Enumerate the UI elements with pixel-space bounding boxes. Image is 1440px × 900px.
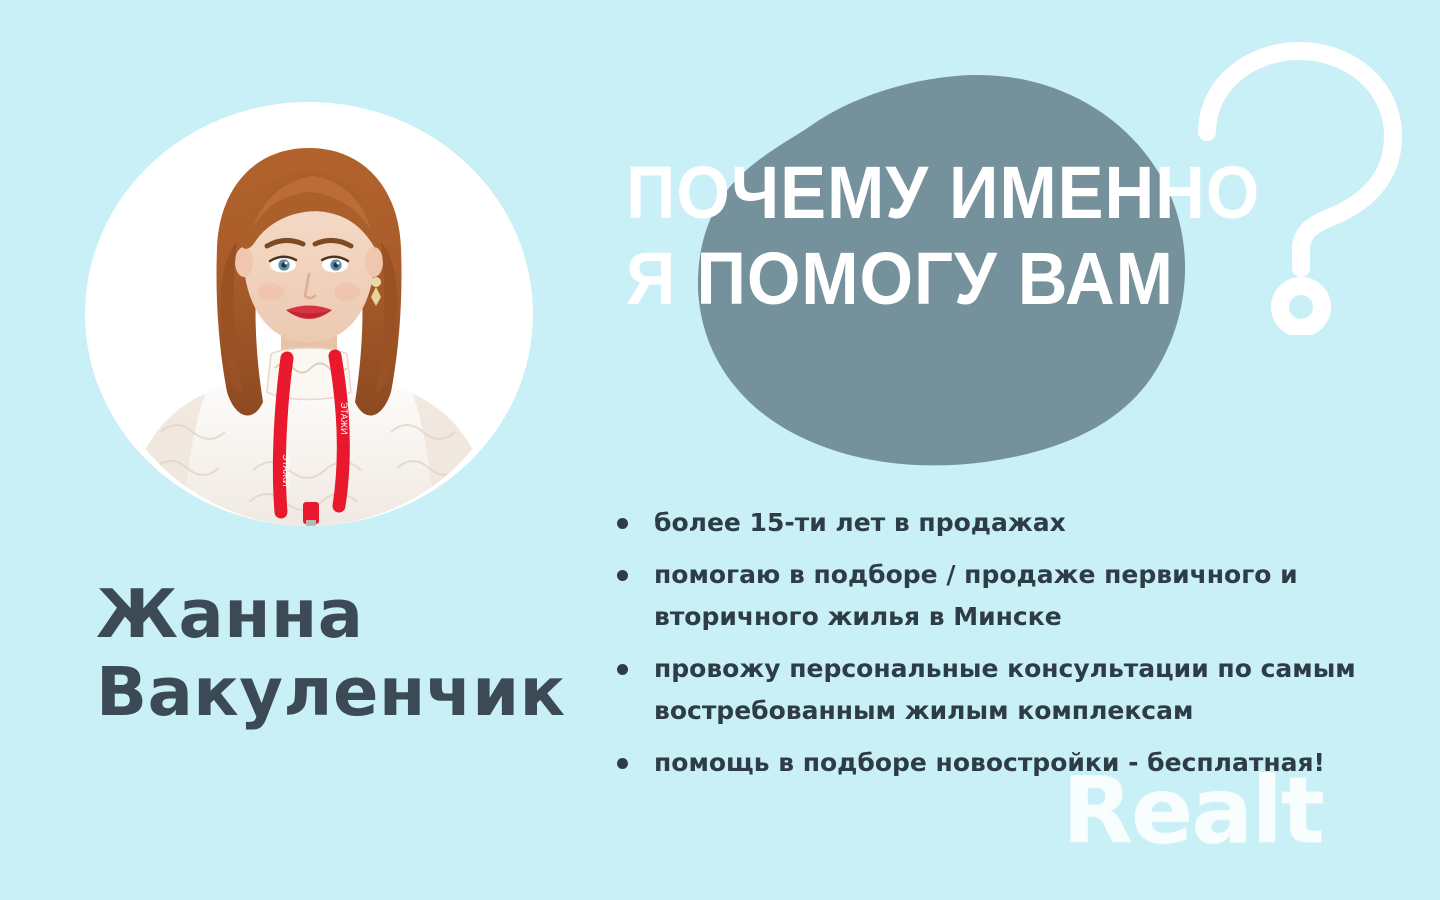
headline-line-1: ПОЧЕМУ ИМЕННО xyxy=(626,150,1277,236)
benefit-text: провожу персональные консультации по сам… xyxy=(654,654,1356,725)
benefits-list: более 15-ти лет в продажах помогаю в под… xyxy=(612,502,1412,794)
benefit-item: помогаю в подборе / продаже первичного и… xyxy=(612,554,1412,638)
benefit-text: более 15-ти лет в продажах xyxy=(654,508,1066,537)
question-mark-dot xyxy=(1280,286,1322,328)
photo-circle-frame: ЭТАЖИ ЭТАЖИ xyxy=(85,102,533,526)
bullet-dot-icon xyxy=(617,518,628,529)
benefit-item: провожу персональные консультации по сам… xyxy=(612,648,1412,732)
svg-text:ЭТАЖИ: ЭТАЖИ xyxy=(281,454,291,486)
bullet-dot-icon xyxy=(617,570,628,581)
benefit-item: более 15-ти лет в продажах xyxy=(612,502,1412,544)
realt-watermark: Realt xyxy=(1062,757,1323,864)
agent-first-name: Жанна xyxy=(96,575,616,653)
headline-line-2: Я ПОМОГУ ВАМ xyxy=(626,236,1277,322)
promo-poster: ЭТАЖИ ЭТАЖИ Жанна Вакуленчик ПОЧЕМУ ИМЕН… xyxy=(0,0,1440,900)
headline: ПОЧЕМУ ИМЕННО Я ПОМОГУ ВАМ xyxy=(626,150,1277,322)
agent-last-name: Вакуленчик xyxy=(96,653,616,731)
bullet-dot-icon xyxy=(617,758,628,769)
earring xyxy=(371,277,381,287)
lanyard-text: ЭТАЖИ xyxy=(339,402,349,434)
agent-photo: ЭТАЖИ ЭТАЖИ xyxy=(85,102,533,526)
bullet-dot-icon xyxy=(617,664,628,675)
benefit-text: помогаю в подборе / продаже первичного и… xyxy=(654,560,1298,631)
agent-name: Жанна Вакуленчик xyxy=(96,575,616,732)
